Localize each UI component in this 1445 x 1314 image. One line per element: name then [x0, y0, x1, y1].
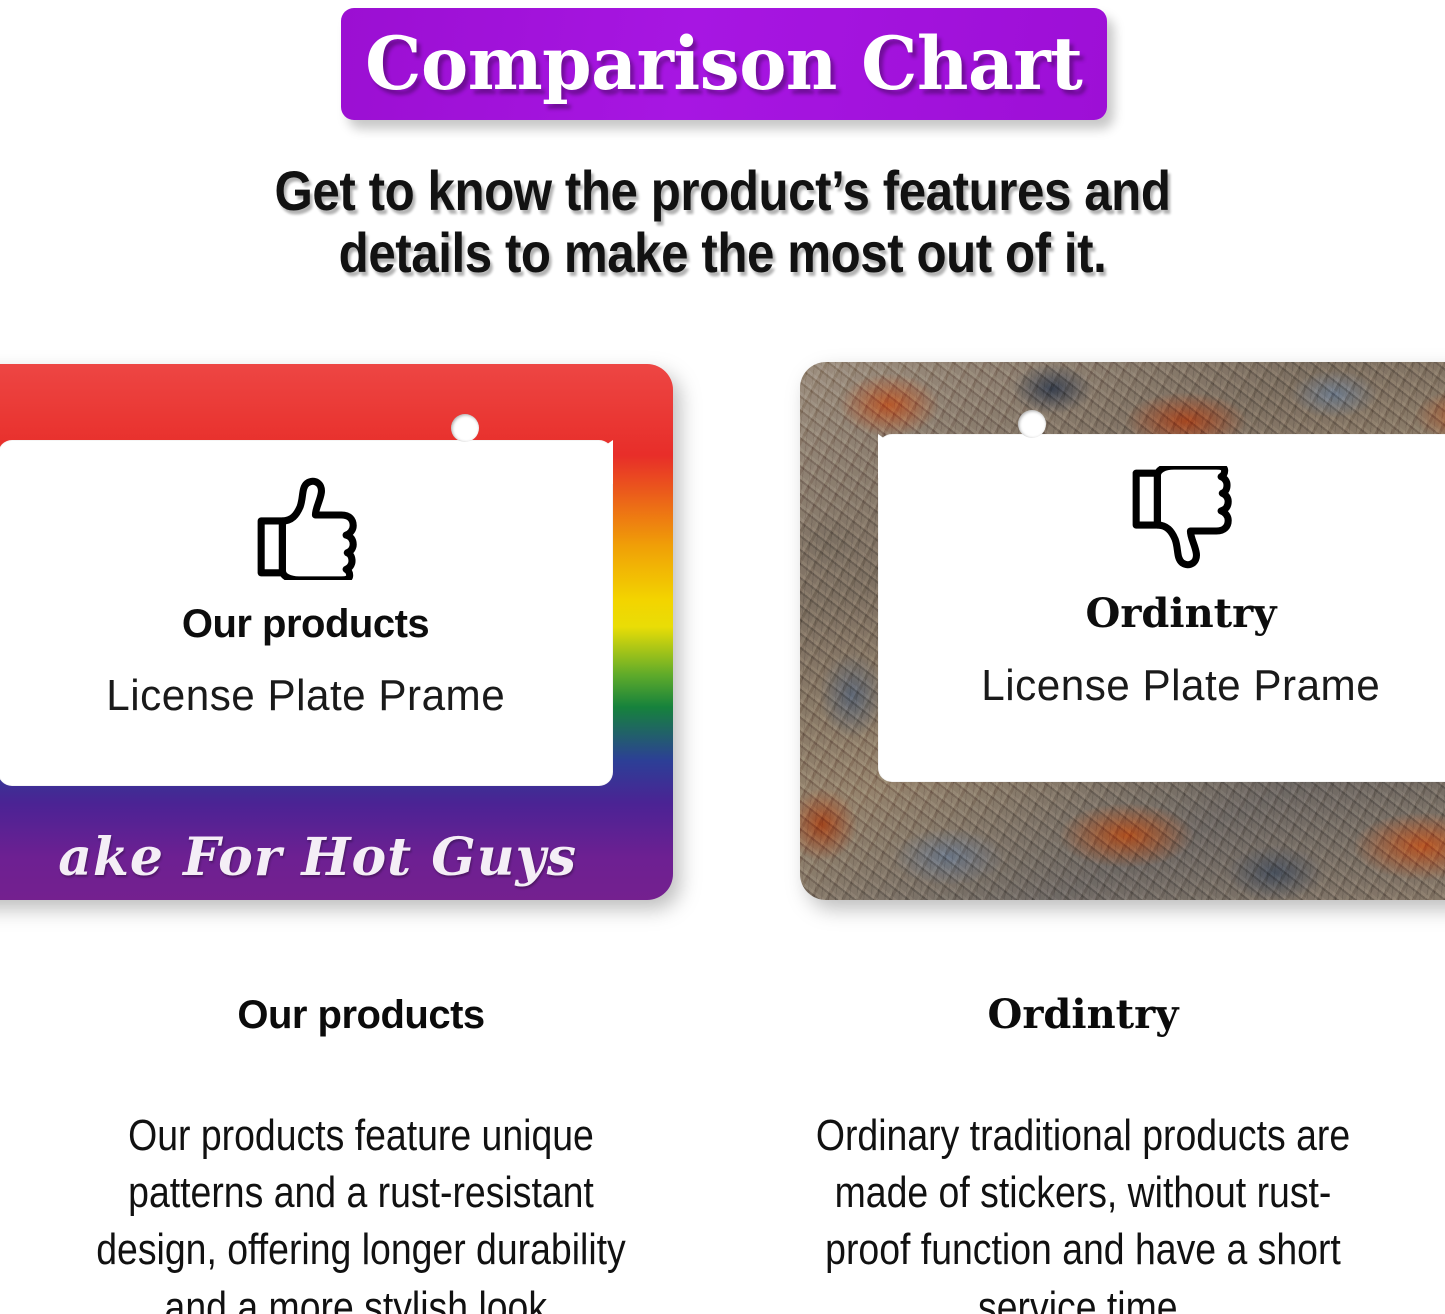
frame-script-text: ake For Hot Guys: [0, 832, 577, 884]
ordinary-products-description: Ordinary traditional products are made o…: [776, 1107, 1390, 1314]
mounting-hole-right: [1018, 410, 1046, 438]
thumbs-down-icon: [1122, 466, 1240, 570]
comparison-chart-page: Comparison Chart Get to know the product…: [0, 0, 1445, 1314]
our-products-column: Our products Our products feature unique…: [0, 995, 722, 1314]
left-card-content: Our products License Plate Prame: [0, 440, 613, 786]
window-corner-notch-right: [878, 434, 940, 478]
ordinary-products-heading: Ordintry: [722, 995, 1444, 1035]
window-corner-notch-left: [549, 440, 613, 484]
our-products-description: Our products feature unique patterns and…: [54, 1107, 668, 1314]
our-products-heading: Our products: [0, 995, 722, 1035]
ordinary-products-column: Ordintry Ordinary traditional products a…: [722, 995, 1444, 1314]
thumbs-up-icon: [247, 476, 365, 580]
ordinary-product-frame-image: Ordintry License Plate Prame: [800, 362, 1445, 900]
right-card-subtitle: License Plate Prame: [982, 664, 1381, 708]
license-plate-window-left: Our products License Plate Prame: [0, 440, 613, 786]
comparison-description-columns: Our products Our products feature unique…: [0, 995, 1445, 1314]
left-card-subtitle: License Plate Prame: [106, 674, 505, 718]
right-card-title: Ordintry: [1086, 594, 1277, 634]
page-title: Comparison Chart: [365, 28, 1082, 101]
subtitle-line-2: details to make the most out of it.: [184, 222, 1262, 284]
page-subtitle: Get to know the product’s features and d…: [184, 160, 1262, 283]
subtitle-line-1: Get to know the product’s features and: [184, 160, 1262, 222]
right-card-content: Ordintry License Plate Prame: [878, 434, 1445, 782]
mounting-hole-left: [451, 414, 479, 442]
license-plate-window-right: Ordintry License Plate Prame: [878, 434, 1445, 782]
left-card-title: Our products: [182, 604, 429, 644]
comparison-chart-banner: Comparison Chart: [341, 8, 1107, 120]
our-product-frame-image: ake For Hot Guys Our products License Pl…: [0, 364, 673, 900]
